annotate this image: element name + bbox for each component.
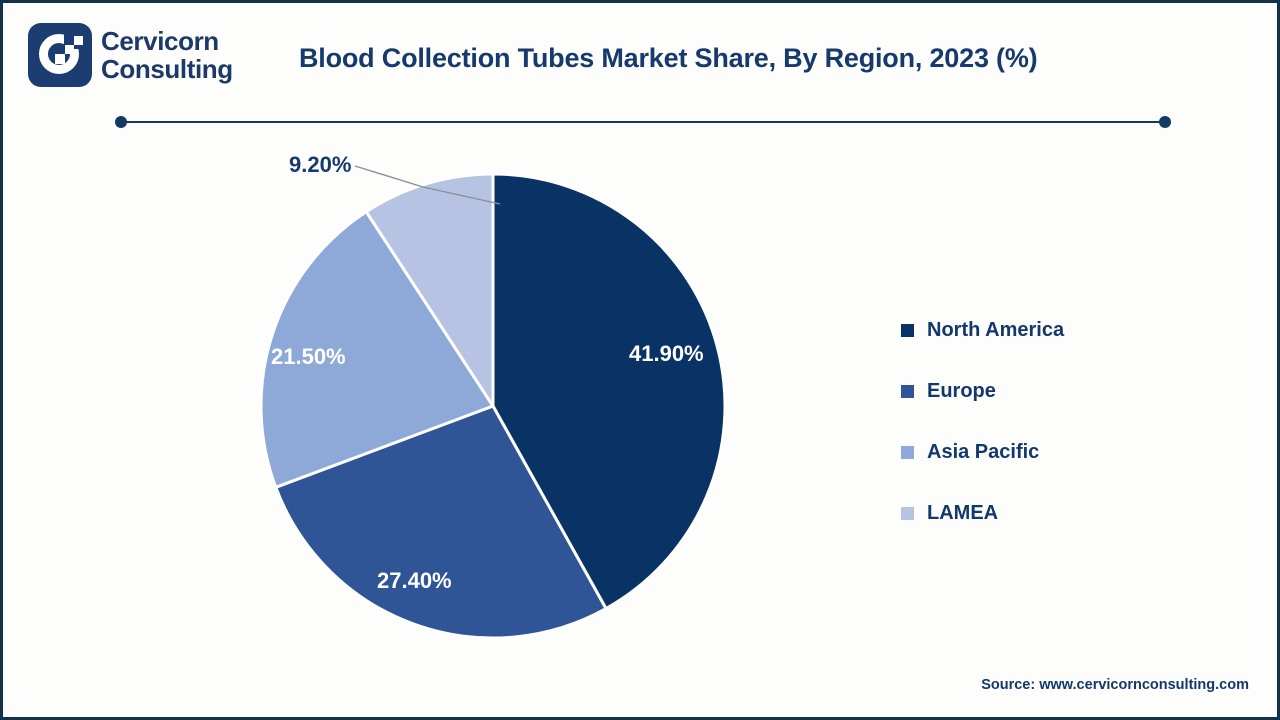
chart-legend: North AmericaEuropeAsia PacificLAMEA [901,300,1161,544]
legend-swatch-icon [901,507,914,520]
pie-leader-line-group [355,166,500,204]
pie-slice-asia-pacific[interactable] [261,212,493,488]
slice-label-lamea: 9.20% [289,152,351,178]
page-title: Blood Collection Tubes Market Share, By … [299,43,1037,74]
pie-slice-group [261,174,725,638]
header-divider [115,115,1173,131]
legend-swatch-icon [901,324,914,337]
legend-label: Europe [927,380,996,403]
legend-item-north-america[interactable]: North America [901,300,1161,361]
pie-slice-north-america[interactable] [493,174,725,609]
divider-line [122,121,1166,123]
brand-name-line1: Cervicorn [101,27,233,55]
slice-label-asia-pacific: 21.50% [271,344,346,370]
pie-slice-lamea[interactable] [366,174,493,406]
divider-dot-right [1159,116,1171,128]
leader-line-lamea [355,166,500,204]
cervicorn-logo-icon [28,23,92,87]
pie-slice-europe[interactable] [276,406,606,638]
logo-pixel-3 [55,54,65,64]
brand-name-line2: Consulting [101,55,233,83]
logo-pixel-1 [74,36,83,45]
chart-canvas: Cervicorn Consulting Blood Collection Tu… [0,0,1280,720]
legend-item-asia-pacific[interactable]: Asia Pacific [901,422,1161,483]
brand-logo[interactable]: Cervicorn Consulting [28,23,233,87]
slice-label-north-america: 41.90% [629,341,704,367]
legend-item-europe[interactable]: Europe [901,361,1161,422]
legend-label: Asia Pacific [927,441,1039,464]
legend-swatch-icon [901,385,914,398]
brand-name: Cervicorn Consulting [101,27,233,83]
source-note: Source: www.cervicornconsulting.com [981,677,1249,693]
legend-swatch-icon [901,446,914,459]
legend-item-lamea[interactable]: LAMEA [901,483,1161,544]
logo-pixel-2 [65,45,74,54]
header: Cervicorn Consulting Blood Collection Tu… [3,3,1277,108]
slice-label-europe: 27.40% [377,568,452,594]
legend-label: North America [927,319,1064,342]
legend-label: LAMEA [927,502,998,525]
